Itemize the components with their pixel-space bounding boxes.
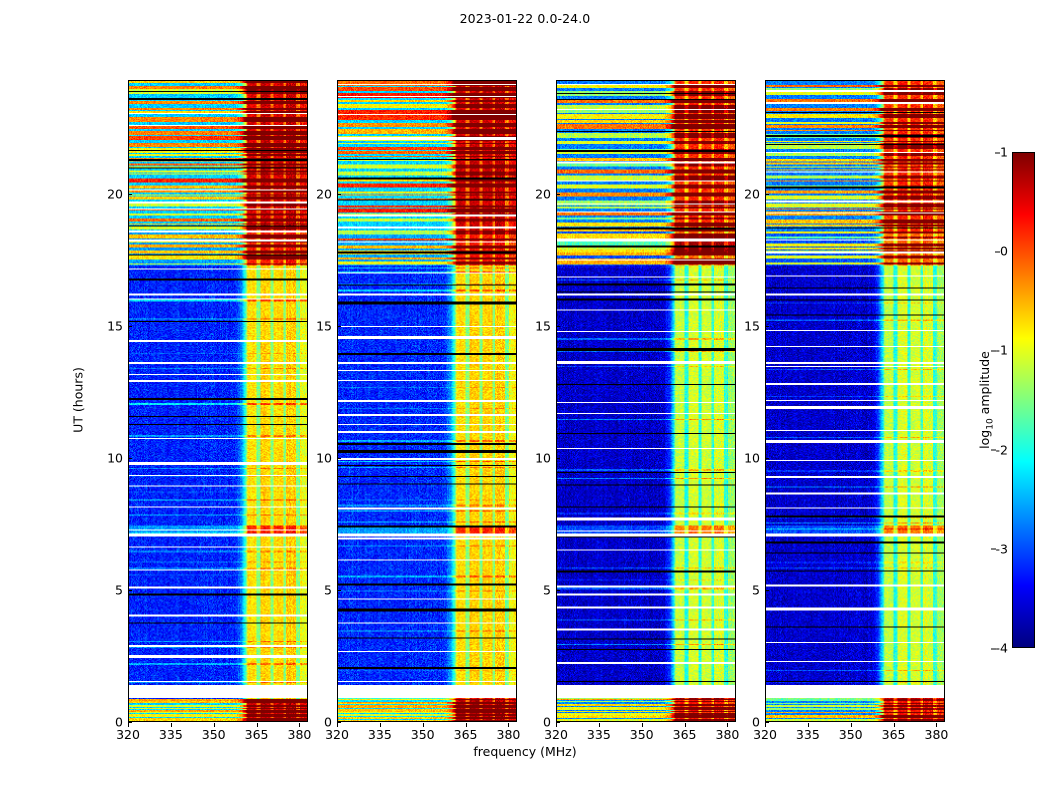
colorbar-tick-label: -2 [996,442,1008,457]
y-tick-label: 20 [107,186,123,201]
y-tick-mark [128,458,132,459]
colorbar-tick-label: -1 [996,343,1008,358]
colorbar-label-main: log [977,430,992,449]
x-tick-label: 320 [116,727,140,742]
y-tick-label: 10 [744,450,760,465]
y-tick-label: 15 [744,318,760,333]
colorbar-tick-mark [991,549,996,550]
x-tick-label: 335 [587,727,611,742]
x-tick-label: 320 [753,727,777,742]
y-tick-mark [765,458,769,459]
colorbar-label: log10 amplitude [977,351,996,449]
x-tick-label: 380 [715,727,739,742]
x-tick-label: 320 [325,727,349,742]
y-tick-mark [337,194,341,195]
y-axis-ticks-xx: 05101520 [88,80,128,722]
y-tick-label: 15 [107,318,123,333]
x-tick-label: 380 [287,727,311,742]
x-tick-label: 365 [245,727,269,742]
x-tick-label: 350 [630,727,654,742]
heatmap-panel-xx[interactable]: XX, V0*V8=EA17*EA07 [128,80,308,722]
y-tick-mark [337,458,341,459]
colorbar-tick-label: -4 [996,641,1008,656]
x-tick-label: 335 [159,727,183,742]
colorbar-tick-mark [995,251,1000,252]
heatmap-image-yy [338,81,516,721]
y-tick-label: 10 [535,450,551,465]
x-tick-label: 320 [544,727,568,742]
x-axis-ticks-yy: 320335350365380 [337,723,517,745]
x-tick-label: 335 [796,727,820,742]
y-tick-mark [128,326,132,327]
x-tick-label: 350 [202,727,226,742]
x-axis-ticks-xx: 320335350365380 [128,723,308,745]
figure-canvas: 2023-01-22 0.0-24.0 UT (hours) frequency… [0,0,1050,800]
heatmap-panel-xy[interactable]: XY, V0*V8=EA17*EA07 [556,80,736,722]
y-tick-label: 5 [752,582,760,597]
y-tick-label: 20 [316,186,332,201]
x-tick-label: 365 [454,727,478,742]
y-tick-label: 10 [316,450,332,465]
y-axis-ticks-yy: 05101520 [297,80,337,722]
y-tick-mark [337,590,341,591]
x-tick-label: 380 [924,727,948,742]
colorbar-tick-label: -3 [996,541,1008,556]
y-tick-label: 20 [744,186,760,201]
x-tick-label: 350 [839,727,863,742]
y-tick-label: 15 [535,318,551,333]
heatmap-panel-yy[interactable]: YY, V0*V8=EA17*EA07 [337,80,517,722]
y-tick-label: 5 [543,582,551,597]
y-axis-ticks-xy: 05101520 [516,80,556,722]
colorbar-tick-mark [991,648,996,649]
colorbar-tick-label: 1 [1000,145,1008,160]
y-axis-ticks-yx: 05101520 [725,80,765,722]
y-tick-label: 15 [316,318,332,333]
colorbar-tick-mark [995,152,1000,153]
y-tick-mark [765,194,769,195]
y-tick-mark [556,326,560,327]
figure-suptitle: 2023-01-22 0.0-24.0 [0,11,1050,26]
y-tick-label: 5 [324,582,332,597]
y-tick-mark [765,326,769,327]
y-axis-label: UT (hours) [71,367,86,433]
x-axis-label: frequency (MHz) [0,744,1050,759]
x-tick-label: 365 [673,727,697,742]
y-tick-mark [765,590,769,591]
x-tick-label: 335 [368,727,392,742]
y-tick-mark [556,194,560,195]
heatmap-image-xx [129,81,307,721]
colorbar-ticks: 10-1-2-3-4 [1012,152,1035,648]
x-axis-ticks-xy: 320335350365380 [556,723,736,745]
x-tick-label: 365 [882,727,906,742]
y-tick-mark [556,590,560,591]
heatmap-panel-yx[interactable]: YX, V0*V8=EA17*EA07 [765,80,945,722]
y-tick-label: 5 [115,582,123,597]
colorbar-label-tail: amplitude [977,351,992,418]
colorbar-tick-label: 0 [1000,244,1008,259]
heatmap-image-xy [557,81,735,721]
heatmap-image-yx [766,81,944,721]
colorbar-tick-mark [991,450,996,451]
y-tick-label: 20 [535,186,551,201]
y-tick-label: 10 [107,450,123,465]
colorbar-label-sub: 10 [985,418,995,429]
x-tick-label: 350 [411,727,435,742]
y-tick-mark [128,194,132,195]
y-tick-mark [337,326,341,327]
x-axis-ticks-yx: 320335350365380 [765,723,945,745]
y-tick-mark [556,458,560,459]
y-tick-mark [128,590,132,591]
x-tick-label: 380 [496,727,520,742]
